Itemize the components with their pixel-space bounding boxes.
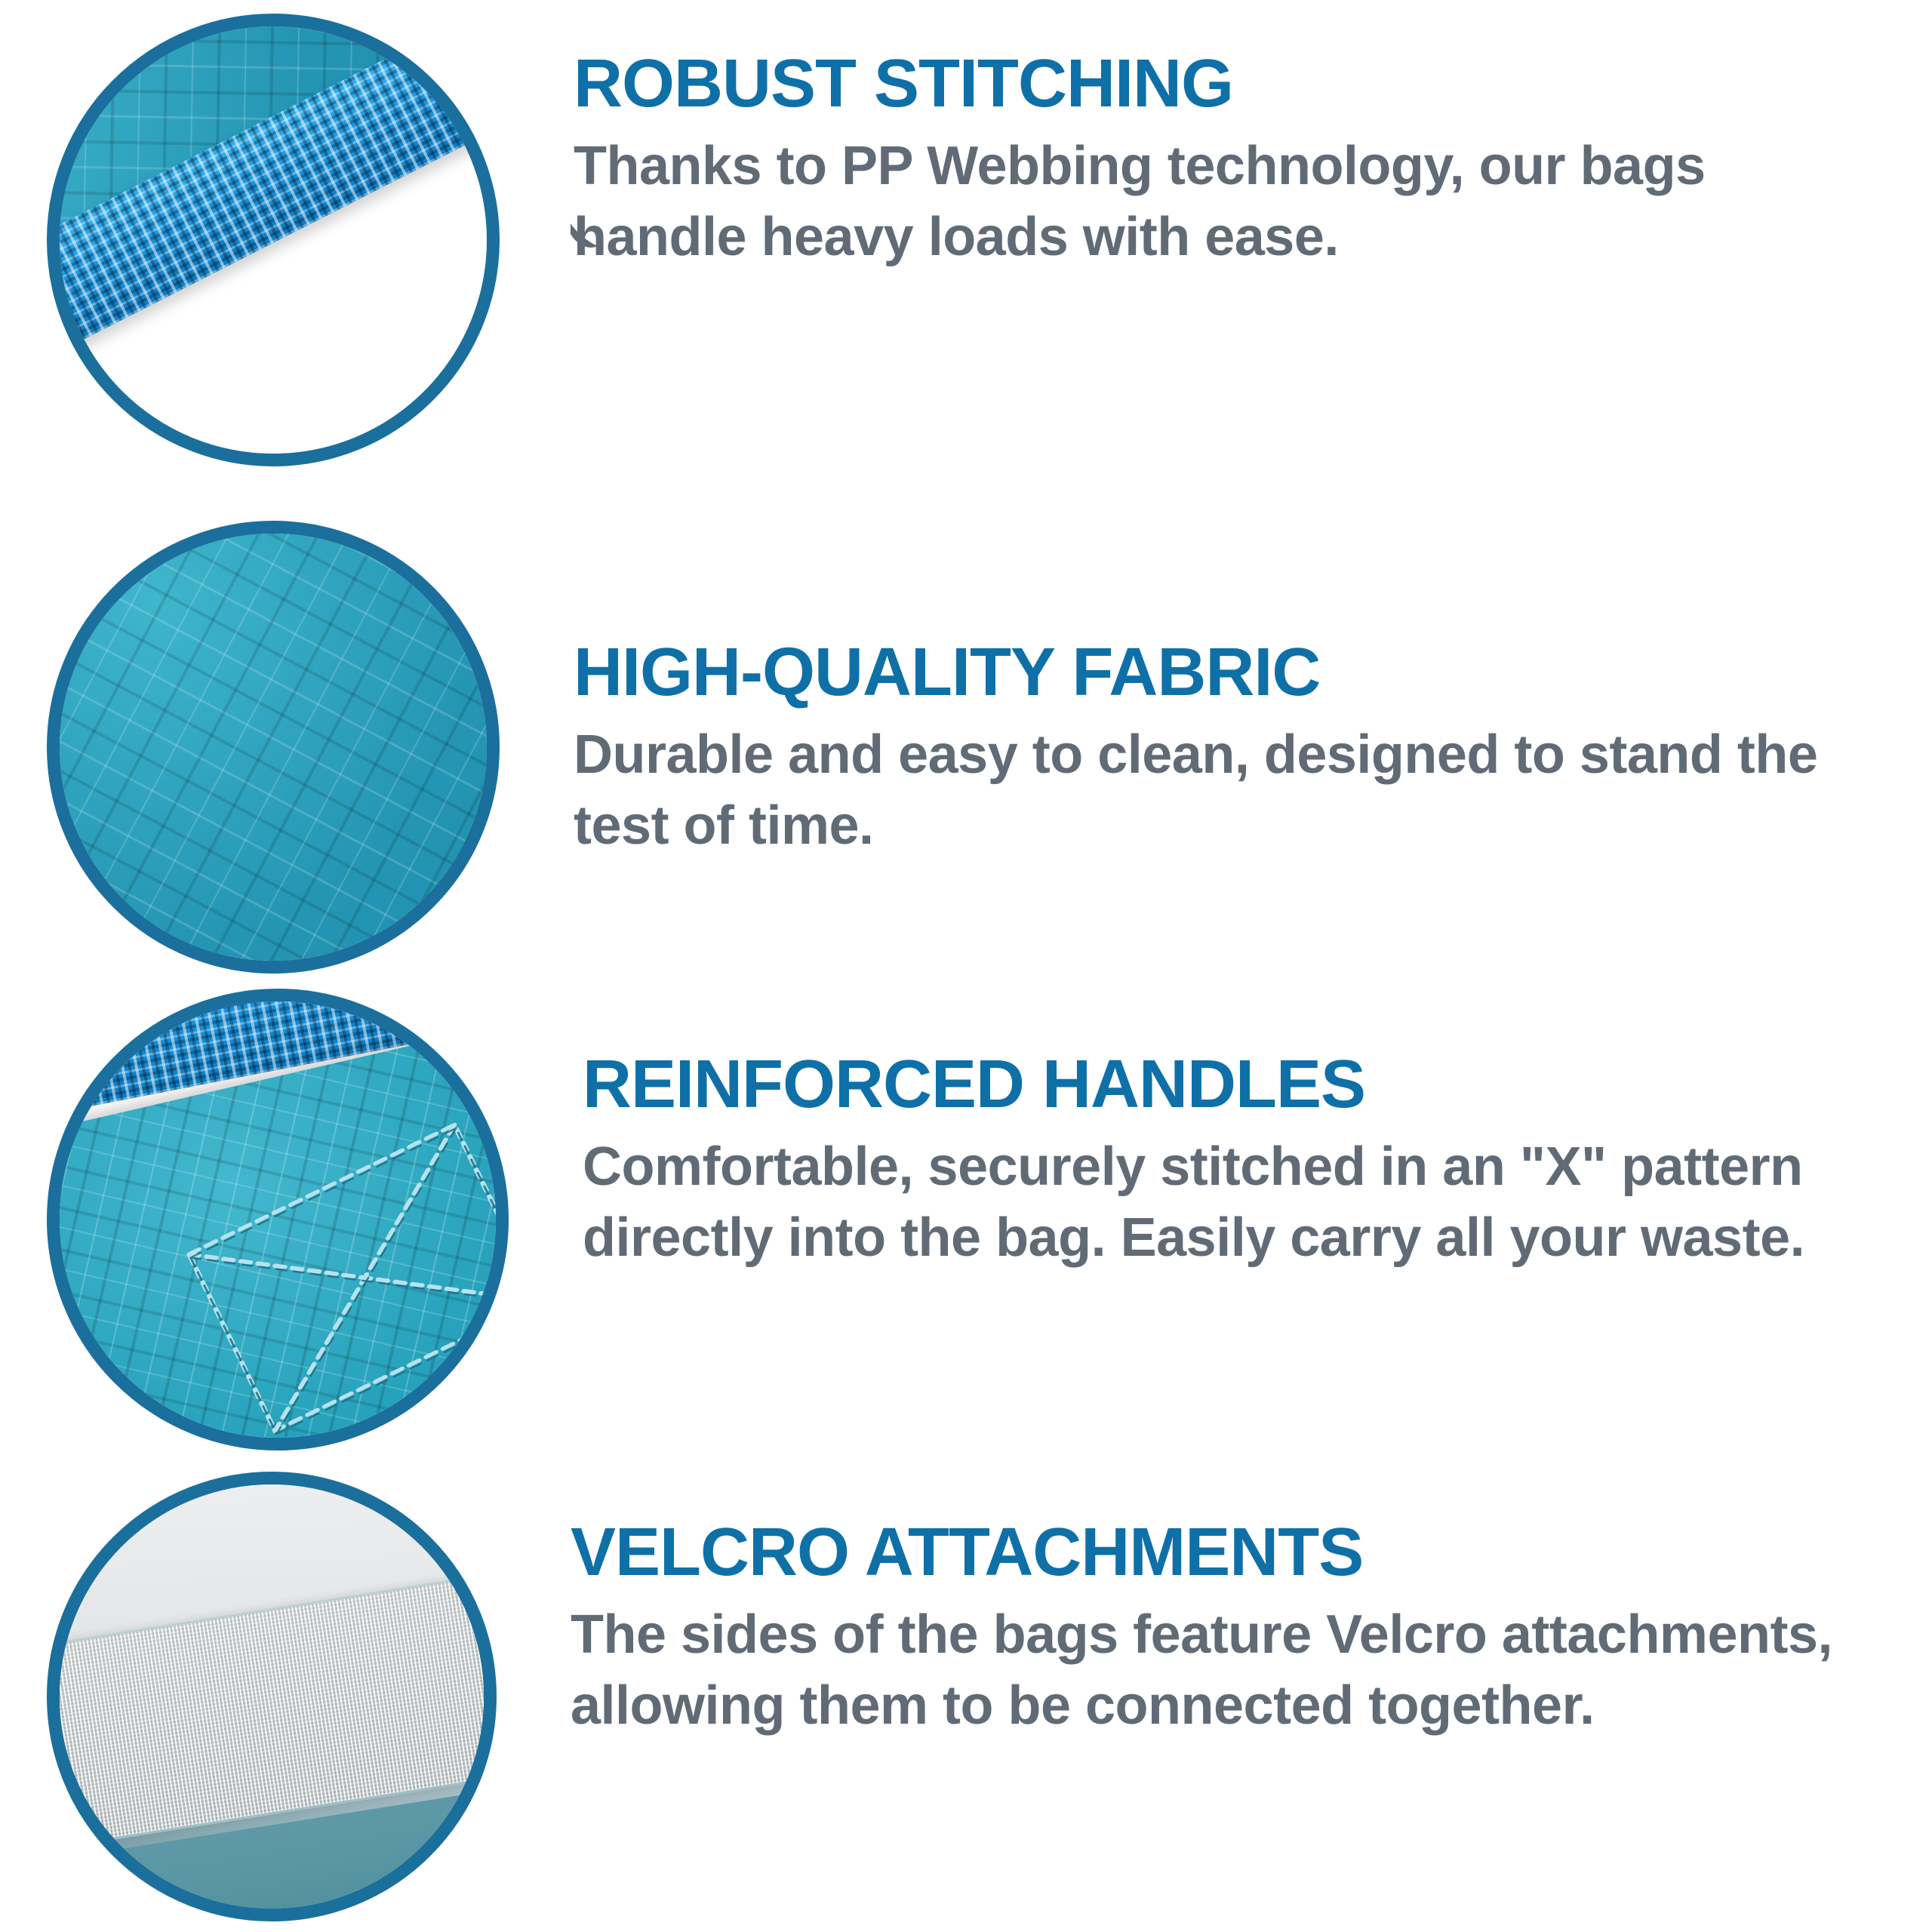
feature-copy-high-quality-fabric: HIGH-QUALITY FABRIC Durable and easy to …: [500, 521, 1932, 861]
feature-description-high-quality-fabric: Durable and easy to clean, designed to s…: [574, 720, 1841, 861]
feature-copy-velcro-attachments: VELCRO ATTACHMENTS The sides of the bags…: [497, 1472, 1932, 1741]
features-infographic: ROBUST STITCHING Thanks to PP Webbing te…: [0, 0, 1932, 1932]
feature-image-wrap-reinforced-handles: [47, 989, 509, 1451]
circular-photo-reinforced-handles: [47, 989, 509, 1451]
photo-content-fabric: [60, 534, 487, 961]
photo-content-velcro: [60, 1484, 484, 1909]
feature-row-velcro-attachments: VELCRO ATTACHMENTS The sides of the bags…: [0, 1472, 1932, 1932]
teal-fabric-texture: [60, 534, 487, 961]
photo-content-stitching: [60, 26, 487, 454]
feature-description-reinforced-handles: Comfortable, securely stitched in an "X"…: [583, 1132, 1841, 1273]
feature-title-velcro-attachments: VELCRO ATTACHMENTS: [571, 1518, 1841, 1586]
photo-content-handles: [60, 1001, 496, 1438]
feature-copy-reinforced-handles: REINFORCED HANDLES Comfortable, securely…: [509, 989, 1932, 1273]
feature-image-wrap-robust-stitching: [47, 14, 500, 466]
feature-description-robust-stitching: Thanks to PP Webbing technology, our bag…: [574, 131, 1841, 272]
circular-photo-high-quality-fabric: [47, 521, 500, 974]
feature-row-reinforced-handles: REINFORCED HANDLES Comfortable, securely…: [0, 989, 1932, 1464]
circular-photo-velcro-attachments: [47, 1472, 497, 1921]
feature-title-robust-stitching: ROBUST STITCHING: [574, 50, 1841, 118]
feature-title-reinforced-handles: REINFORCED HANDLES: [583, 1051, 1841, 1118]
feature-row-high-quality-fabric: HIGH-QUALITY FABRIC Durable and easy to …: [0, 521, 1932, 989]
x-stitch-pattern-icon: [177, 1115, 496, 1438]
feature-description-velcro-attachments: The sides of the bags feature Velcro att…: [571, 1600, 1841, 1741]
circular-photo-robust-stitching: [47, 14, 500, 466]
feature-copy-robust-stitching: ROBUST STITCHING Thanks to PP Webbing te…: [500, 14, 1932, 272]
feature-image-wrap-velcro-attachments: [47, 1472, 497, 1921]
feature-title-high-quality-fabric: HIGH-QUALITY FABRIC: [574, 638, 1841, 706]
feature-row-robust-stitching: ROBUST STITCHING Thanks to PP Webbing te…: [0, 14, 1932, 497]
feature-image-wrap-high-quality-fabric: [47, 521, 500, 974]
